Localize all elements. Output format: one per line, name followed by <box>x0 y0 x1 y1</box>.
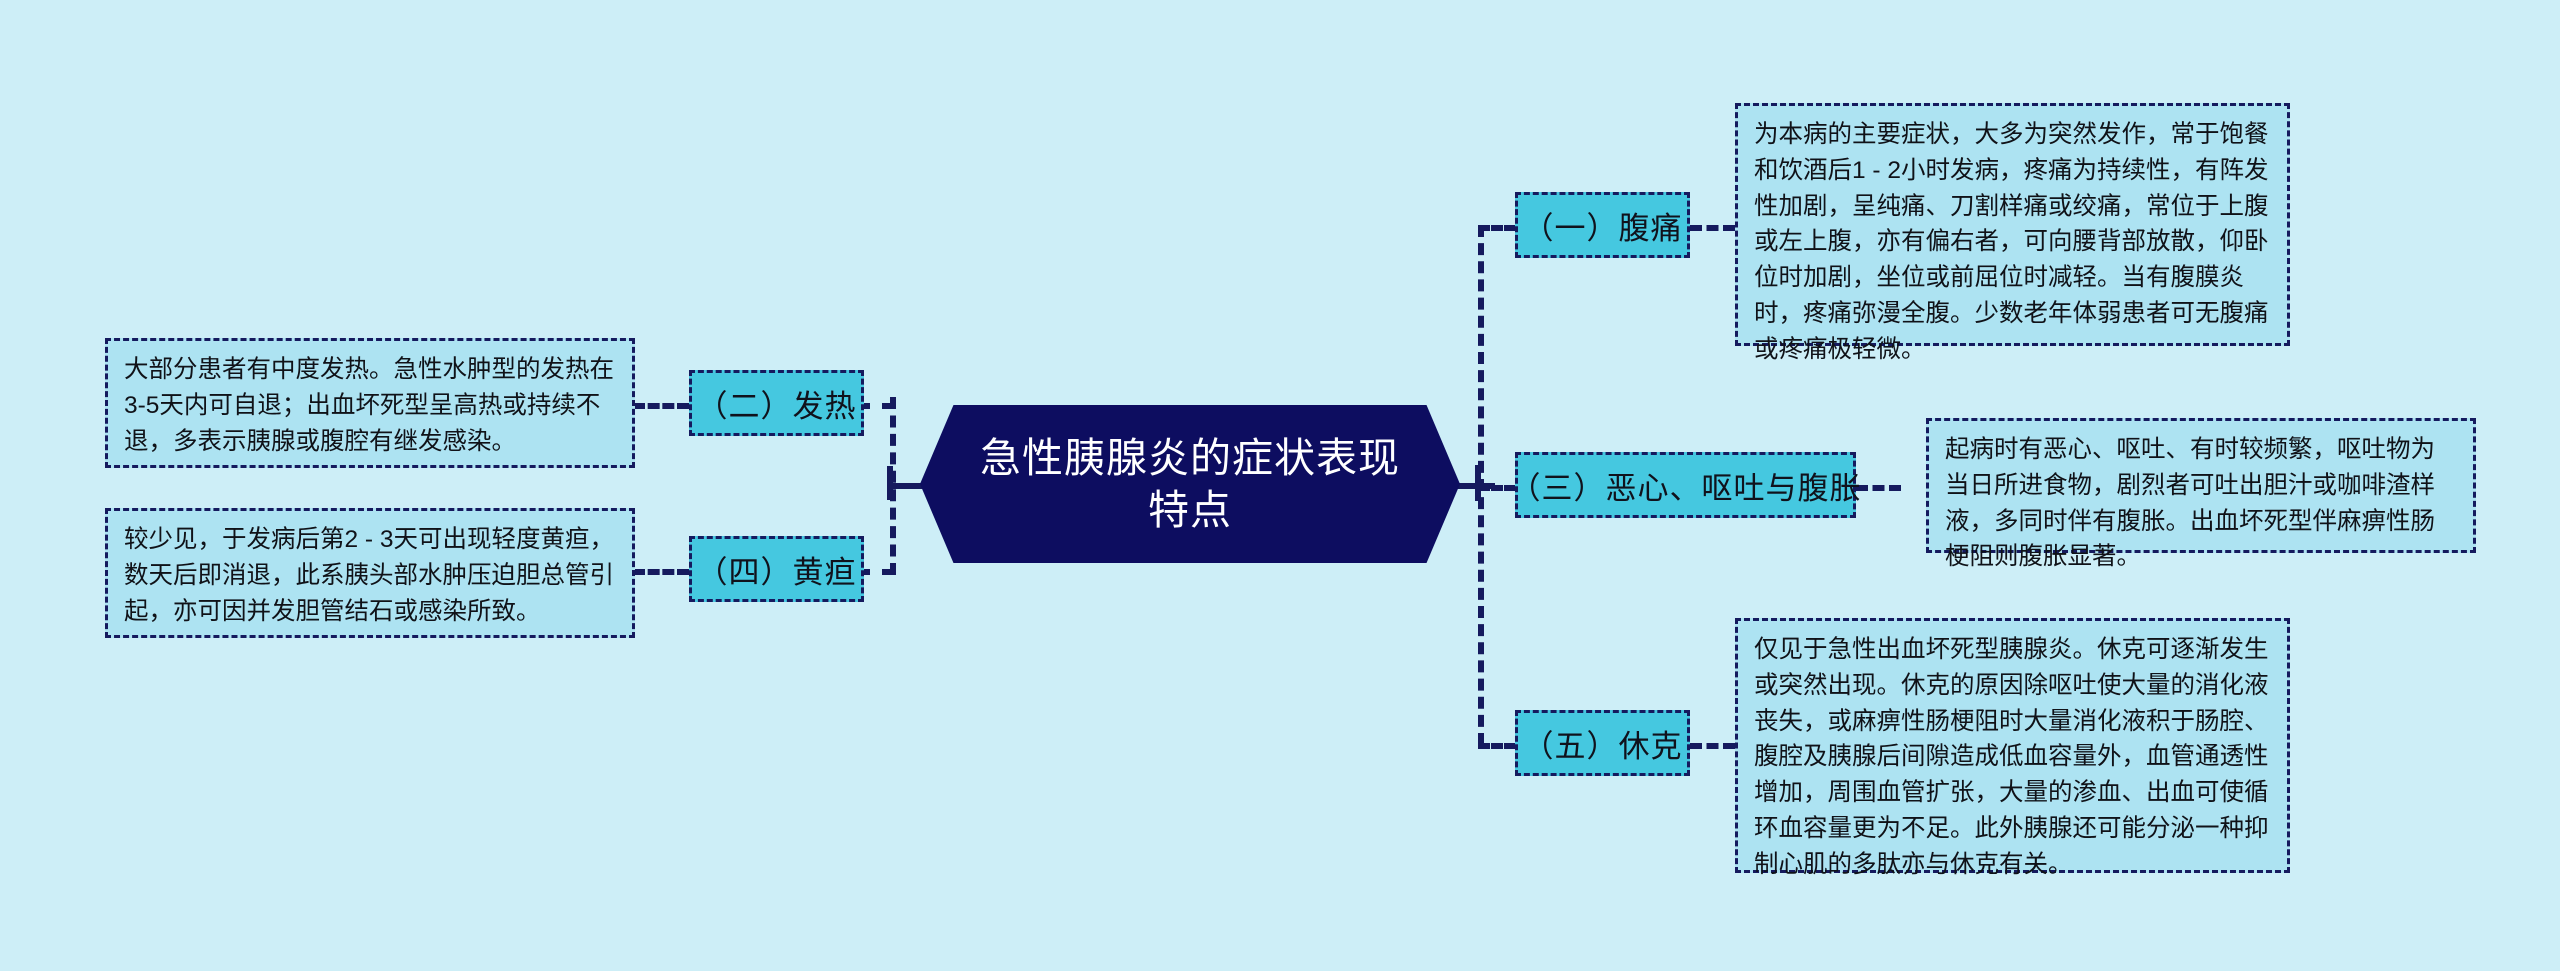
center-node[interactable]: 急性胰腺炎的症状表现特点 <box>920 405 1460 563</box>
detail-box-xiuke: 仅见于急性出血坏死型胰腺炎。休克可逐渐发生或突然出现。休克的原因除呕吐使大量的消… <box>1735 618 2290 873</box>
detail-box-huangdan: 较少见，于发病后第2 - 3天可出现轻度黄疸，数天后即消退，此系胰头部水肿压迫胆… <box>105 508 635 638</box>
connector-fare-detail <box>633 403 689 409</box>
detail-text-xiuke: 仅见于急性出血坏死型胰腺炎。休克可逐渐发生或突然出现。休克的原因除呕吐使大量的消… <box>1754 636 2269 878</box>
detail-box-exin: 起病时有恶心、呕吐、有时较频繁，呕吐物为当日所进食物，剧烈者可吐出胆汁或咖啡渣样… <box>1926 418 2476 553</box>
detail-text-huangdan: 较少见，于发病后第2 - 3天可出现轻度黄疸，数天后即消退，此系胰头部水肿压迫胆… <box>124 526 614 625</box>
mindmap-canvas: 急性胰腺炎的症状表现特点 （一）腹痛 为本病的主要症状，大多为突然发作，常于饱餐… <box>0 0 2560 971</box>
connector-huangdan-detail <box>633 569 689 575</box>
branch-label-futong: （一）腹痛 <box>1523 203 1683 248</box>
branch-node-xiuke[interactable]: （五）休克 <box>1515 710 1690 776</box>
branch-node-fare[interactable]: （二）发热 <box>689 370 864 436</box>
branch-label-xiuke: （五）休克 <box>1523 721 1683 766</box>
detail-text-fare: 大部分患者有中度发热。急性水肿型的发热在3-5天内可自退；出血坏死型呈高热或持续… <box>124 356 614 455</box>
connector-futong-detail <box>1690 225 1735 231</box>
branch-label-huangdan: （四）黄疸 <box>697 547 857 592</box>
connector-right-spine-cap <box>1475 465 1481 501</box>
branch-node-huangdan[interactable]: （四）黄疸 <box>689 536 864 602</box>
detail-text-futong: 为本病的主要症状，大多为突然发作，常于饱餐和饮酒后1 - 2小时发病，疼痛为持续… <box>1754 121 2269 363</box>
branch-label-fare: （二）发热 <box>697 381 857 426</box>
branch-node-futong[interactable]: （一）腹痛 <box>1515 192 1690 258</box>
connector-left-spine-cap <box>887 466 893 500</box>
detail-text-exin: 起病时有恶心、呕吐、有时较频繁，呕吐物为当日所进食物，剧烈者可吐出胆汁或咖啡渣样… <box>1945 436 2435 570</box>
connector-xiuke-detail <box>1690 743 1735 749</box>
branch-node-exin[interactable]: （三）恶心、呕吐与腹胀 <box>1515 452 1856 518</box>
connector-to-xiuke <box>1478 743 1516 749</box>
detail-box-futong: 为本病的主要症状，大多为突然发作，常于饱餐和饮酒后1 - 2小时发病，疼痛为持续… <box>1735 103 2290 346</box>
connector-to-futong <box>1478 225 1516 231</box>
branch-label-exin: （三）恶心、呕吐与腹胀 <box>1510 463 1862 508</box>
connector-exin-detail <box>1856 485 1901 491</box>
detail-box-fare: 大部分患者有中度发热。急性水肿型的发热在3-5天内可自退；出血坏死型呈高热或持续… <box>105 338 635 468</box>
center-node-label: 急性胰腺炎的症状表现特点 <box>966 432 1414 537</box>
